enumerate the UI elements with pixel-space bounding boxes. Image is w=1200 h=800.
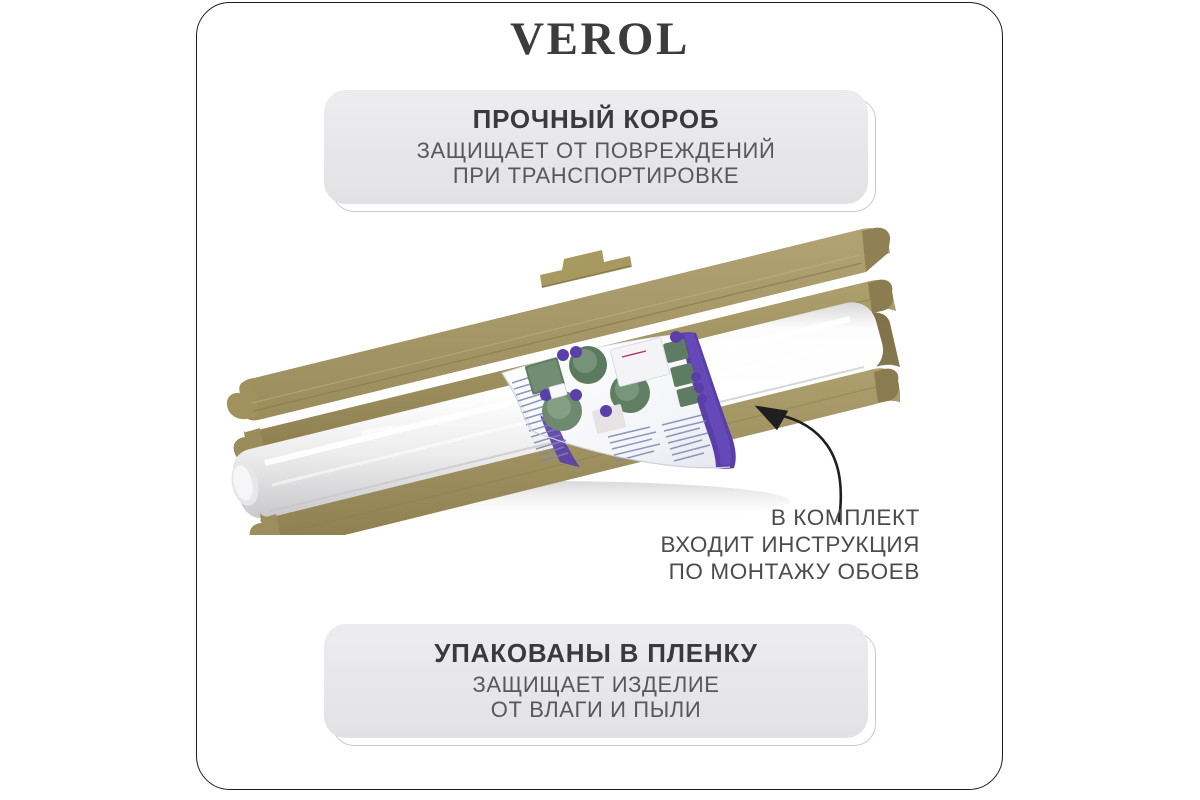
- instruction-annotation: В КОМПЛЕКТ ВХОДИТ ИНСТРУКЦИЯ ПО МОНТАЖУ …: [500, 505, 920, 585]
- panel-fill: УПАКОВАНЫ В ПЛЕНКУ ЗАЩИЩАЕТ ИЗДЕЛИЕ ОТ В…: [324, 624, 868, 738]
- infographic-canvas: VEROL ПРОЧНЫЙ КОРОБ ЗАЩИЩАЕТ ОТ ПОВРЕЖДЕ…: [0, 0, 1200, 800]
- panel-subtitle: ЗАЩИЩАЕТ ИЗДЕЛИЕ ОТ ВЛАГИ И ПЫЛИ: [472, 672, 719, 723]
- annotation-line: ПО МОНТАЖУ ОБОЕВ: [500, 559, 920, 586]
- annotation-line: В КОМПЛЕКТ: [500, 505, 920, 532]
- panel-fill: ПРОЧНЫЙ КОРОБ ЗАЩИЩАЕТ ОТ ПОВРЕЖДЕНИЙ ПР…: [324, 90, 868, 204]
- panel-subtitle-line: ЗАЩИЩАЕТ ИЗДЕЛИЕ: [472, 672, 719, 698]
- panel-title: УПАКОВАНЫ В ПЛЕНКУ: [434, 639, 758, 667]
- feature-panel-film-wrapped: УПАКОВАНЫ В ПЛЕНКУ ЗАЩИЩАЕТ ИЗДЕЛИЕ ОТ В…: [324, 624, 876, 746]
- annotation-line: ВХОДИТ ИНСТРУКЦИЯ: [500, 532, 920, 559]
- panel-subtitle-line: ПРИ ТРАНСПОРТИРОВКЕ: [417, 163, 776, 189]
- panel-subtitle-line: ОТ ВЛАГИ И ПЫЛИ: [472, 697, 719, 723]
- panel-title: ПРОЧНЫЙ КОРОБ: [473, 105, 720, 133]
- panel-subtitle: ЗАЩИЩАЕТ ОТ ПОВРЕЖДЕНИЙ ПРИ ТРАНСПОРТИРО…: [417, 138, 776, 189]
- panel-subtitle-line: ЗАЩИЩАЕТ ОТ ПОВРЕЖДЕНИЙ: [417, 138, 776, 164]
- feature-panel-sturdy-box: ПРОЧНЫЙ КОРОБ ЗАЩИЩАЕТ ОТ ПОВРЕЖДЕНИЙ ПР…: [324, 90, 876, 212]
- brand-logo: VEROL: [0, 16, 1200, 63]
